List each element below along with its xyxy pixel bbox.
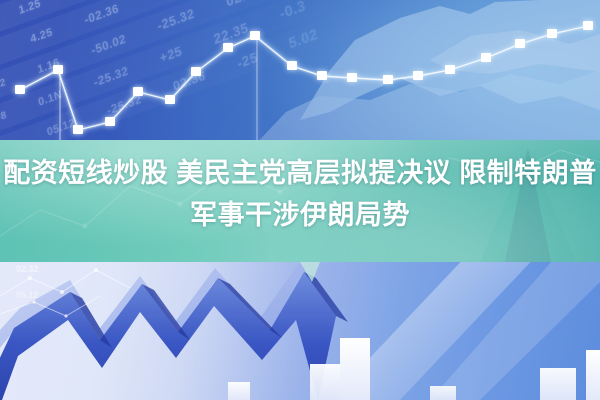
bar: [228, 382, 250, 400]
bar: [430, 386, 456, 400]
bar: [310, 364, 340, 400]
bar: [540, 368, 576, 400]
bar: [586, 350, 600, 400]
pale-podium-shapes: [0, 0, 300, 150]
bottom-svg: 02.32 05.12: [0, 262, 600, 400]
ticker-value-0232: 02.32: [16, 264, 39, 274]
bar: [340, 338, 370, 400]
news-banner-image: -0.05-2.25-0.05-08.35+45.0221.05+1.252.2…: [0, 0, 600, 400]
ticker-value-0512: 05.12: [16, 290, 39, 300]
bottom-graphics-area: 02.32 05.12: [0, 262, 600, 400]
page-title: 配资短线炒股 美民主党高层拟提决议 限制特朗普 军事干涉伊朗局势: [0, 152, 600, 236]
